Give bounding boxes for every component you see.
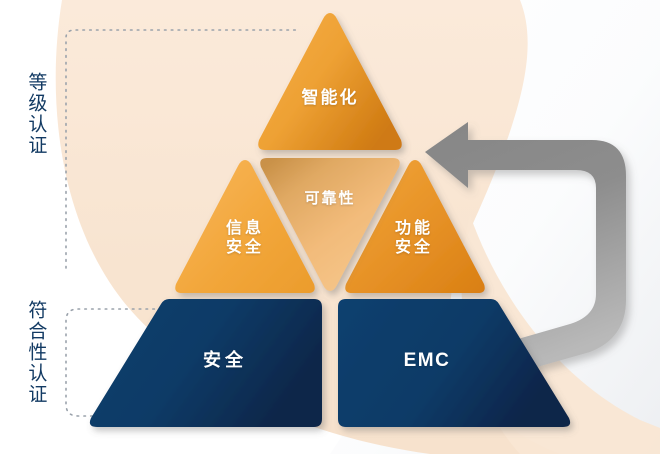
pyramid-layer xyxy=(0,0,660,454)
side-label-compliance: 符合性认证 xyxy=(24,300,46,405)
tile-label-intelligent: 智能化 xyxy=(284,88,376,108)
tile-label-reliability: 可靠性 xyxy=(282,190,378,208)
tile-label-emc: EMC xyxy=(377,350,477,372)
tile-label-safety: 安全 xyxy=(175,350,275,371)
tile-label-functional-safety: 功能 安全 xyxy=(372,220,456,258)
side-label-grade: 等级认证 xyxy=(24,72,46,156)
tile-label-info-security: 信息 安全 xyxy=(203,220,287,258)
diagram-canvas: 等级认证 符合性认证 智能化 可靠性 信息 安全 功能 安全 安全 EMC xyxy=(0,0,660,454)
tile-intelligent[interactable] xyxy=(258,13,402,150)
